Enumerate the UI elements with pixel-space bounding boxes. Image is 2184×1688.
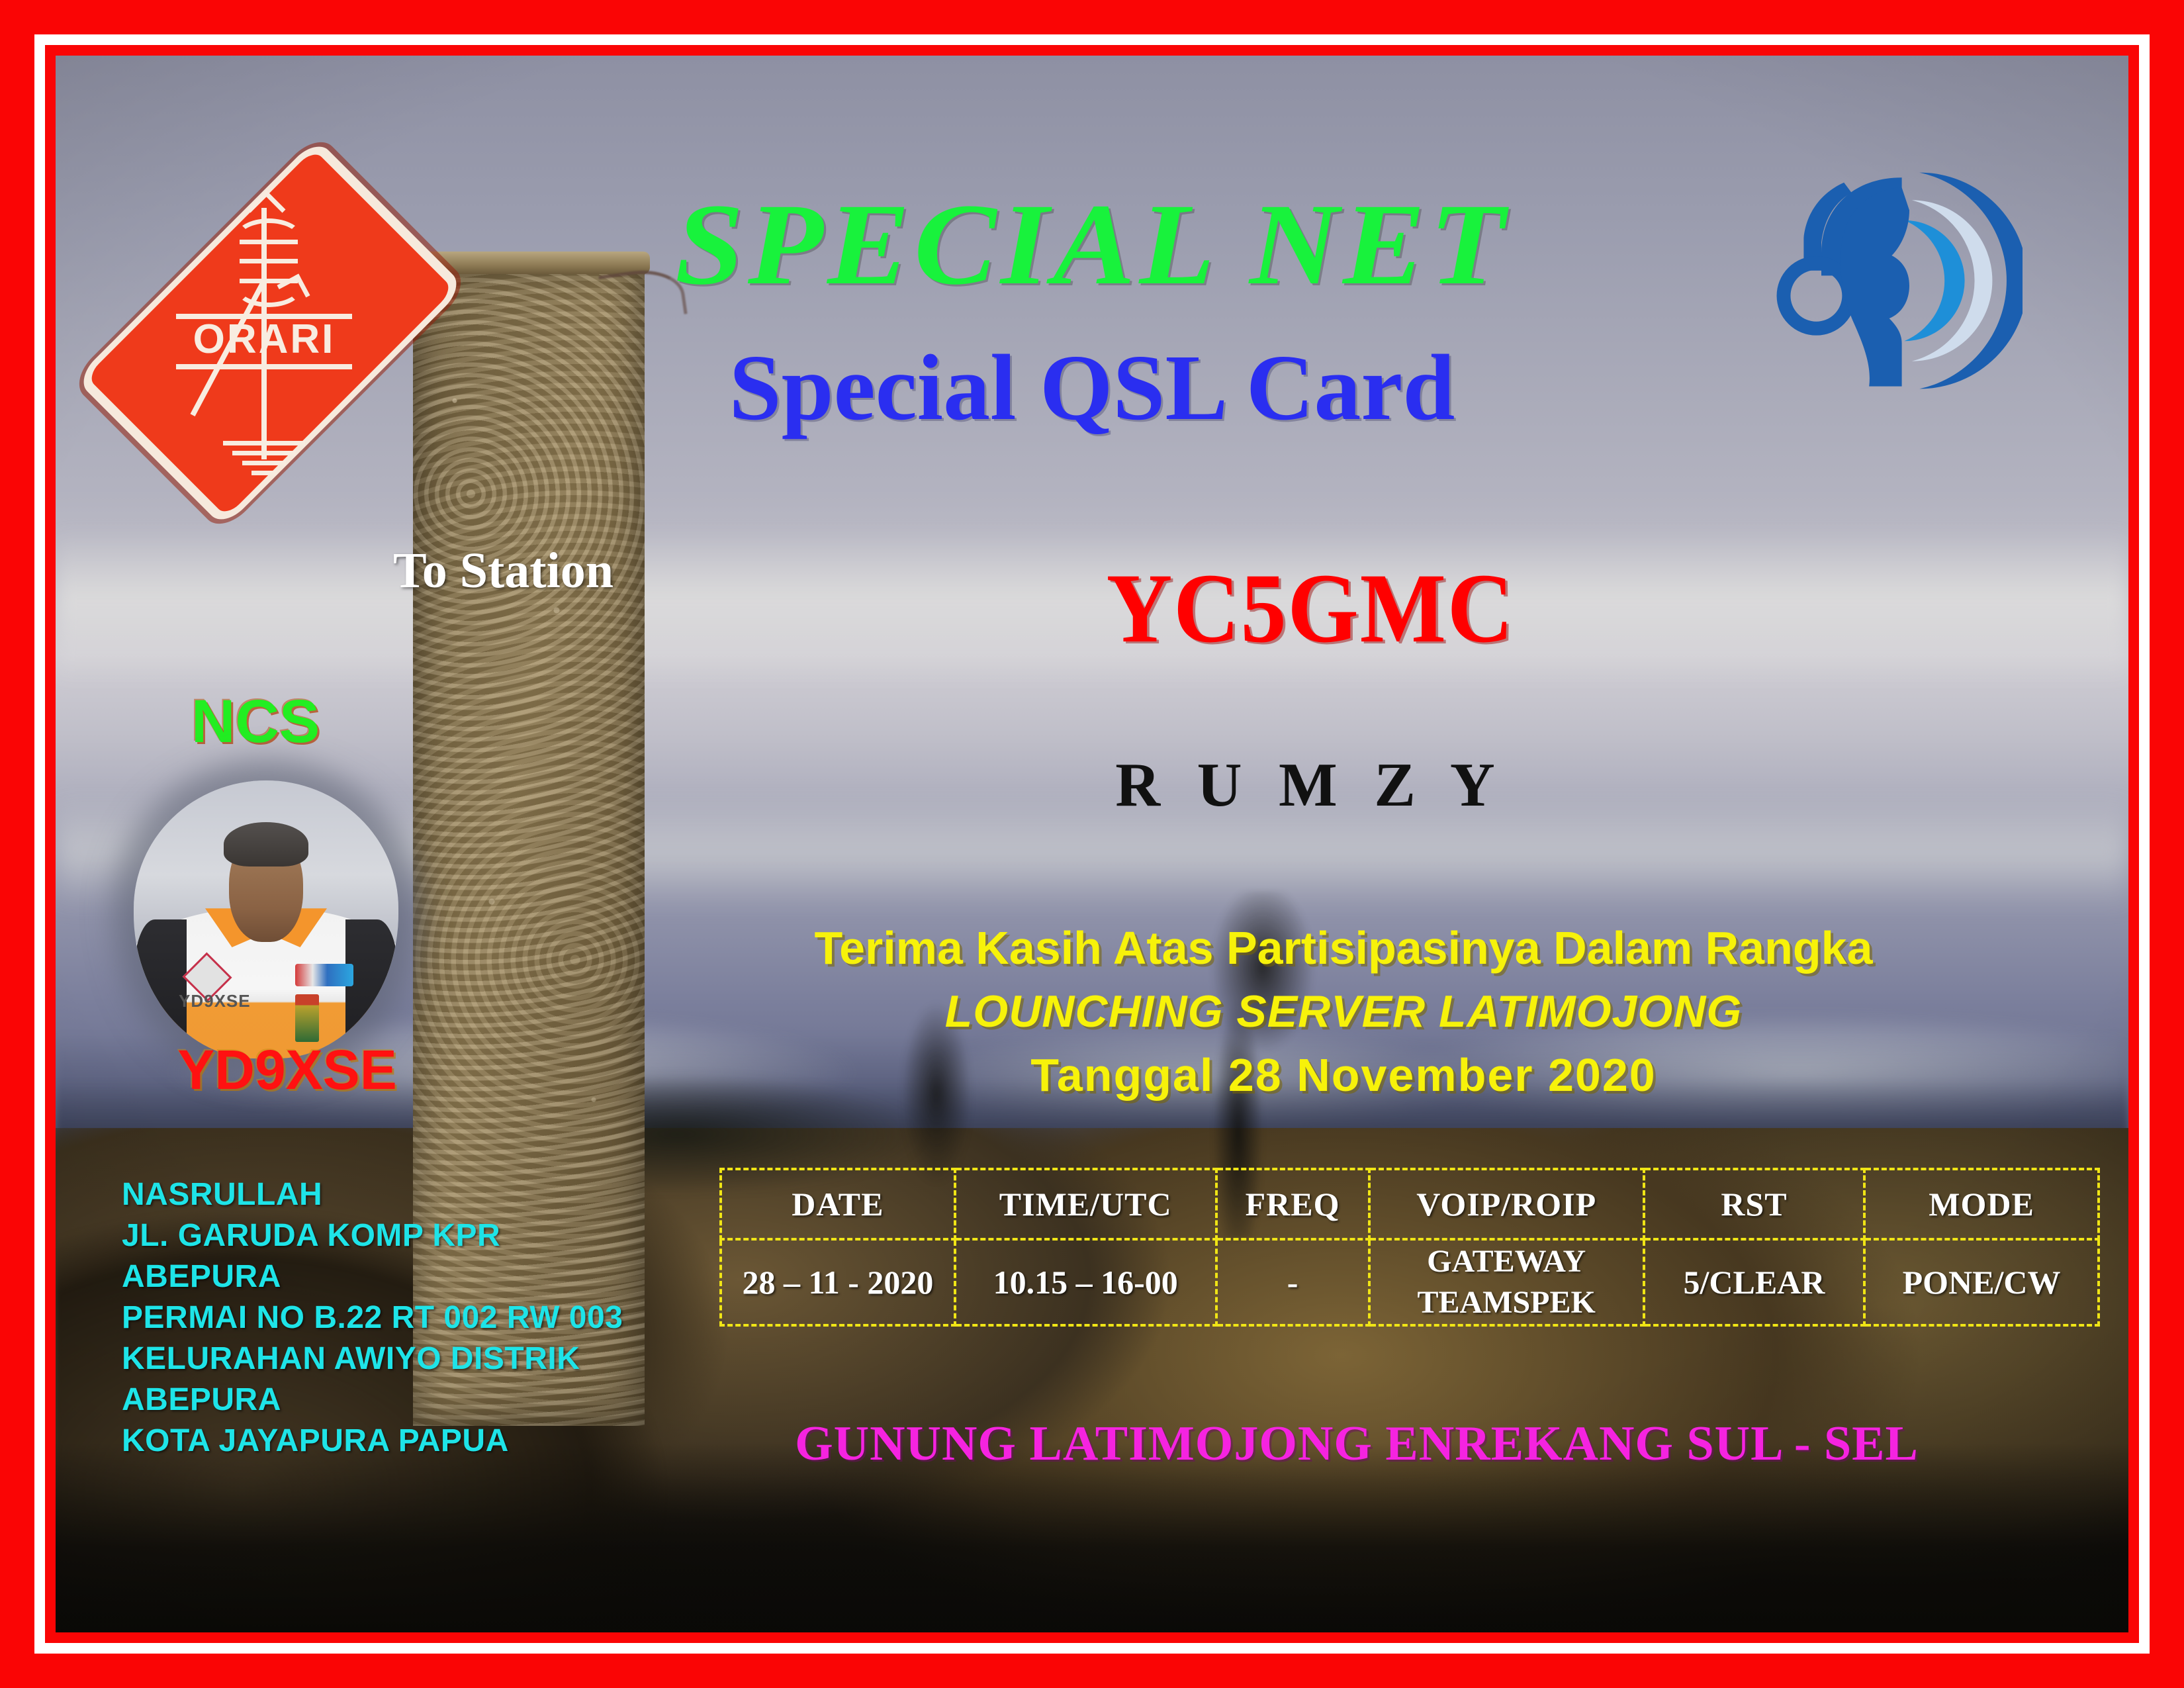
photo-hair: [224, 822, 308, 867]
cell-voip: GATEWAY TEAMSPEK: [1369, 1239, 1644, 1325]
column-header-date: DATE: [721, 1169, 955, 1239]
photo-shoulder-patch: [295, 964, 353, 986]
orari-ground-icon: [223, 441, 305, 481]
cell-date: 28 – 11 - 2020: [721, 1239, 955, 1325]
card-photo-area: ORARI SPECIAL NET Special QSL Card To St…: [56, 56, 2128, 1632]
address-line: KOTA JAYAPURA PAPUA: [122, 1421, 623, 1462]
column-header-mode: MODE: [1864, 1169, 2099, 1239]
cell-mode: PONE/CW: [1864, 1239, 2099, 1325]
address-line: NASRULLAH: [122, 1174, 623, 1215]
table-header-row: DATE TIME/UTC FREQ VOIP/ROIP RST MODE: [721, 1169, 2099, 1239]
column-header-voip: VOIP/ROIP: [1369, 1169, 1644, 1239]
qso-table: DATE TIME/UTC FREQ VOIP/ROIP RST MODE 28…: [719, 1168, 2100, 1327]
page-subtitle: Special QSL Card: [56, 340, 2128, 434]
address-line: KELURAHAN AWIYO DISTRIK: [122, 1338, 623, 1380]
photo-sleeve-right: [345, 919, 398, 1058]
page-title: SPECIAL NET: [56, 187, 2128, 303]
column-header-rst: RST: [1644, 1169, 1864, 1239]
photo-shirt-callsign: YD9XSE: [179, 991, 251, 1011]
cell-rst: 5/CLEAR: [1644, 1239, 1864, 1325]
table-row: 28 – 11 - 2020 10.15 – 16-00 - GATEWAY T…: [721, 1239, 2099, 1325]
ncs-callsign: YD9XSE: [148, 1042, 426, 1098]
column-header-time: TIME/UTC: [955, 1169, 1216, 1239]
ncs-label: NCS: [191, 691, 320, 752]
address-block: NASRULLAH JL. GARUDA KOMP KPR ABEPURA PE…: [122, 1174, 623, 1462]
operator-name: R U M Z Y: [770, 754, 1850, 816]
thanks-block: Terima Kasih Atas Partisipasinya Dalam R…: [744, 916, 1943, 1107]
address-line: ABEPURA: [122, 1256, 623, 1297]
photo-sleeve-left: [134, 919, 187, 1058]
address-line: PERMAI NO B.22 RT 002 RW 003: [122, 1297, 623, 1338]
ncs-operator-photo: YD9XSE: [134, 780, 398, 1058]
cell-voip-line-1: GATEWAY: [1371, 1241, 1642, 1282]
address-line: ABEPURA: [122, 1380, 623, 1421]
location-caption: GUNUNG LATIMOJONG ENREKANG SUL - SEL: [678, 1419, 2036, 1468]
column-header-freq: FREQ: [1216, 1169, 1369, 1239]
cell-voip-line-2: TEAMSPEK: [1371, 1282, 1642, 1323]
thanks-line-1: Terima Kasih Atas Partisipasinya Dalam R…: [815, 922, 1873, 974]
qsl-card: ORARI SPECIAL NET Special QSL Card To St…: [0, 0, 2184, 1688]
address-line: JL. GARUDA KOMP KPR: [122, 1215, 623, 1256]
thanks-line-2: LOUNCHING SERVER LATIMOJONG: [744, 980, 1943, 1043]
cell-freq: -: [1216, 1239, 1369, 1325]
photo-id-lanyard: [295, 994, 319, 1041]
footer-motto: "AMATIR RADIO ADALAH PROGRESIVE": [128, 1631, 1138, 1632]
cell-time: 10.15 – 16-00: [955, 1239, 1216, 1325]
to-station-label: To Station: [393, 545, 614, 596]
thanks-line-3: Tanggal 28 November 2020: [744, 1043, 1943, 1107]
station-callsign: YC5GMC: [813, 559, 1807, 658]
